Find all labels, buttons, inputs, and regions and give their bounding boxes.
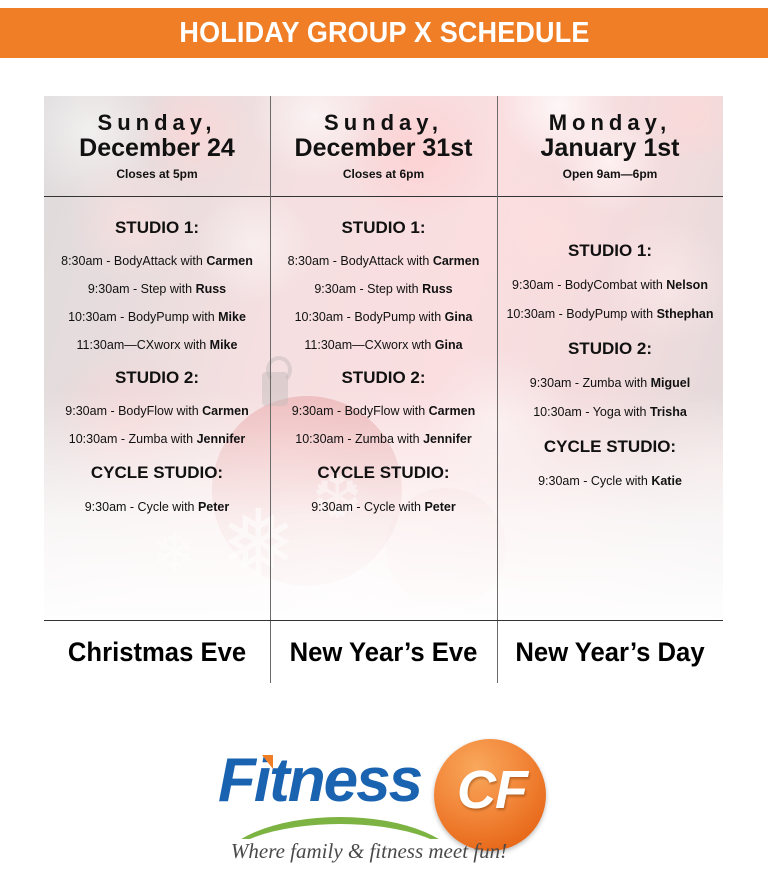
class-time: 10:30am - BodyPump with: [68, 310, 218, 324]
column-header: Sunday, December 31st Closes at 6pm: [270, 96, 497, 196]
class-time: 10:30am - Zumba with: [69, 432, 197, 446]
section-heading: CYCLE STUDIO:: [497, 437, 723, 457]
holiday-divider: [497, 621, 498, 683]
section-heading: STUDIO 2:: [497, 339, 723, 359]
holiday-name: New Year’s Eve: [276, 637, 492, 668]
logo-swoosh-icon: [220, 813, 460, 839]
logo-wordmark: Fitness: [218, 745, 421, 816]
class-time: 9:30am - Cycle with: [85, 500, 198, 514]
section-heading: STUDIO 1:: [270, 218, 497, 238]
logo-monogram: CF: [442, 759, 542, 821]
section-heading: STUDIO 1:: [44, 218, 270, 238]
class-time: 10:30am - Yoga with: [533, 405, 650, 419]
class-time: 11:30am—CXworx wth: [304, 338, 434, 352]
class-time: 10:30am - Zumba with: [295, 432, 423, 446]
header-divider: [44, 196, 723, 197]
logo-accent-icon: [262, 755, 273, 769]
section-heading: STUDIO 1:: [497, 241, 723, 261]
class-time: 10:30am - BodyPump with: [506, 307, 656, 321]
class-instructor: Mike: [210, 338, 238, 352]
class-time: 8:30am - BodyAttack with: [288, 254, 433, 268]
class-time: 9:30am - BodyFlow with: [65, 404, 202, 418]
class-time: 8:30am - BodyAttack with: [61, 254, 206, 268]
class-time: 9:30am - BodyFlow with: [292, 404, 429, 418]
column-hours: Closes at 5pm: [116, 167, 197, 181]
column-date: January 1st: [541, 135, 680, 162]
column-classes: STUDIO 1: 8:30am - BodyAttack with Carme…: [270, 218, 497, 642]
section-heading: CYCLE STUDIO:: [270, 463, 497, 483]
holiday-names-row: Christmas Eve New Year’s Eve New Year’s …: [44, 621, 723, 683]
class-instructor: Katie: [651, 474, 682, 488]
column-day: Sunday,: [324, 111, 443, 134]
section-heading: STUDIO 2:: [270, 368, 497, 388]
class-instructor: Peter: [424, 500, 455, 514]
page-title: HOLIDAY GROUP X SCHEDULE: [179, 17, 589, 50]
class-instructor: Sthephan: [657, 307, 714, 321]
section-heading: CYCLE STUDIO:: [44, 463, 270, 483]
column-date: December 31st: [295, 135, 473, 162]
class-time: 9:30am - Zumba with: [530, 376, 651, 390]
column-divider: [270, 96, 271, 620]
column-hours: Closes at 6pm: [343, 167, 424, 181]
class-instructor: Mike: [218, 310, 246, 324]
class-time: 9:30am - BodyCombat with: [512, 278, 666, 292]
class-instructor: Carmen: [202, 404, 249, 418]
column-classes: STUDIO 1: 8:30am - BodyAttack with Carme…: [44, 218, 270, 642]
column-day: Monday,: [549, 111, 672, 134]
header-banner: HOLIDAY GROUP X SCHEDULE: [0, 8, 768, 58]
class-time: 9:30am - Cycle with: [311, 500, 424, 514]
schedule-table: ❅ ❆ ❄ Sunday, December 24 Closes at 5pm …: [44, 96, 723, 683]
column-classes: STUDIO 1: 9:30am - BodyCombat with Nelso…: [497, 241, 723, 665]
column-date: December 24: [79, 135, 235, 162]
class-instructor: Jennifer: [423, 432, 472, 446]
class-time: 10:30am - BodyPump with: [295, 310, 445, 324]
class-instructor: Peter: [198, 500, 229, 514]
class-instructor: Carmen: [206, 254, 253, 268]
schedule-column-december-31: Sunday, December 31st Closes at 6pm STUD…: [270, 96, 497, 620]
class-instructor: Russ: [422, 282, 453, 296]
class-instructor: Nelson: [666, 278, 708, 292]
logo-tagline: Where family & fitness meet fun!: [224, 839, 514, 864]
class-instructor: Gina: [445, 310, 473, 324]
column-divider: [497, 96, 498, 620]
brand-logo: Fitness CF Where family & fitness meet f…: [0, 735, 768, 875]
holiday-divider: [270, 621, 271, 683]
column-day: Sunday,: [98, 111, 217, 134]
class-time: 9:30am - Step with: [88, 282, 196, 296]
class-instructor: Miguel: [651, 376, 691, 390]
holiday-name: Christmas Eve: [50, 637, 265, 668]
section-heading: STUDIO 2:: [44, 368, 270, 388]
column-header: Monday, January 1st Open 9am—6pm: [497, 96, 723, 196]
class-instructor: Carmen: [433, 254, 480, 268]
class-instructor: Russ: [196, 282, 227, 296]
class-time: 11:30am—CXworx with: [77, 338, 210, 352]
class-time: 9:30am - Step with: [314, 282, 422, 296]
column-header: Sunday, December 24 Closes at 5pm: [44, 96, 270, 196]
class-instructor: Gina: [435, 338, 463, 352]
schedule-columns: Sunday, December 24 Closes at 5pm STUDIO…: [44, 96, 723, 620]
schedule-column-december-24: Sunday, December 24 Closes at 5pm STUDIO…: [44, 96, 270, 620]
class-instructor: Trisha: [650, 405, 687, 419]
schedule-column-january-1: Monday, January 1st Open 9am—6pm STUDIO …: [497, 96, 723, 620]
holiday-name: New Year’s Day: [503, 637, 718, 668]
class-time: 9:30am - Cycle with: [538, 474, 651, 488]
class-instructor: Jennifer: [197, 432, 246, 446]
column-hours: Open 9am—6pm: [563, 167, 658, 181]
class-instructor: Carmen: [429, 404, 476, 418]
